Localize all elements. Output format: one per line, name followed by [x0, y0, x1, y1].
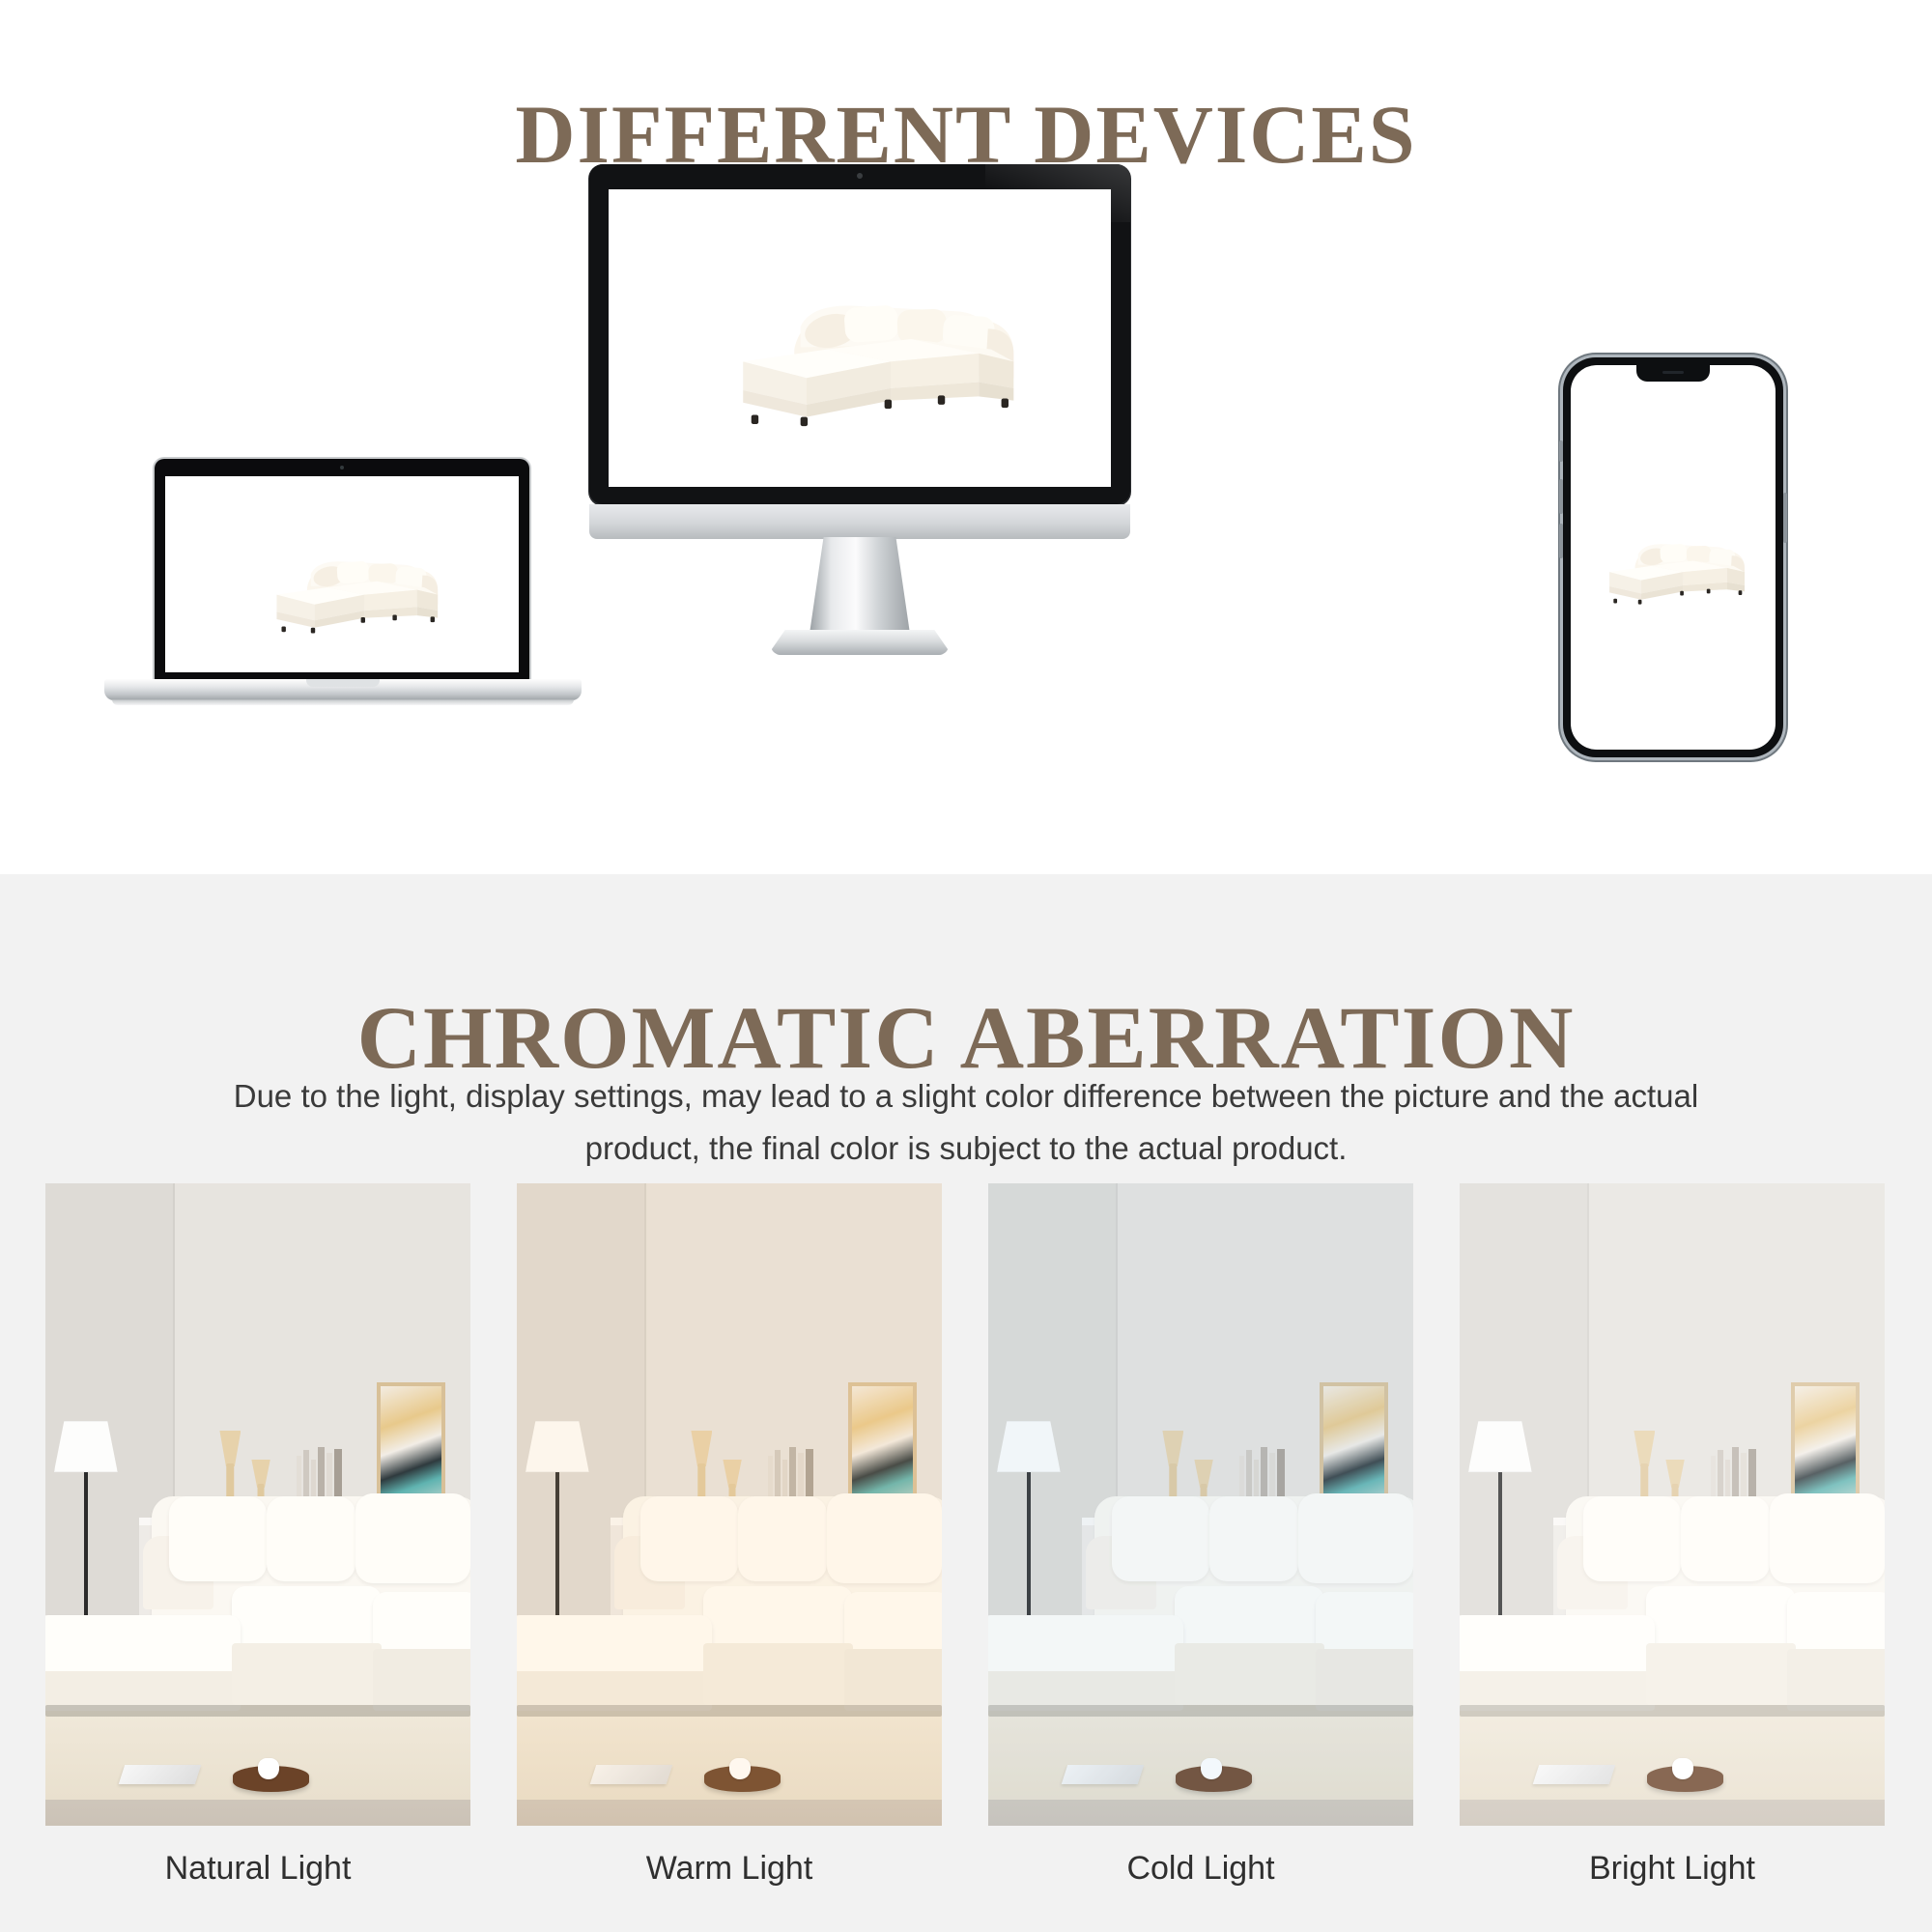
room-photo-cold [988, 1183, 1413, 1826]
monitor-screen-content [609, 189, 1111, 487]
sofa-shadow [517, 1705, 941, 1717]
lighting-panel[interactable]: Cold Light [988, 1183, 1413, 1826]
room-scene [988, 1183, 1413, 1826]
room-scene [1460, 1183, 1885, 1826]
sofa-base [1175, 1643, 1325, 1705]
sofa-base [373, 1649, 470, 1711]
monitor-device [589, 164, 1130, 609]
magazines [119, 1765, 202, 1784]
laptop-hinge-notch [306, 679, 380, 687]
phone-screen-content [1571, 365, 1776, 750]
room-photo-bright [1460, 1183, 1885, 1826]
sofa-cushion [267, 1496, 355, 1581]
sofa-ottoman-chaise [517, 1615, 712, 1677]
sectional-sofa [517, 1434, 942, 1717]
lighting-panel-caption: Natural Light [45, 1850, 470, 1888]
sofa-seat [373, 1592, 470, 1654]
different-devices-section: DIFFERENT DEVICES [0, 0, 1932, 874]
sofa-cushion [1209, 1496, 1298, 1581]
sofa-shadow [988, 1705, 1412, 1717]
coffee-cup [729, 1758, 751, 1780]
sofa-seat [1175, 1586, 1325, 1648]
room-photo-warm [517, 1183, 942, 1826]
sofa-base [1646, 1643, 1797, 1705]
chromatic-aberration-disclaimer: Due to the light, display settings, may … [213, 1070, 1719, 1175]
phone-device [1563, 357, 1783, 757]
sofa-cushion [1770, 1493, 1885, 1584]
sofa-shadow [1460, 1705, 1884, 1717]
lighting-panel[interactable]: Bright Light [1460, 1183, 1885, 1826]
sofa-ottoman-chaise [1460, 1615, 1655, 1677]
coffee-cup [1201, 1758, 1222, 1780]
sofa-base [703, 1643, 854, 1705]
phone-speaker-icon [1662, 371, 1684, 374]
phone-body [1563, 357, 1783, 757]
sofa-seat [844, 1592, 942, 1654]
product-detail-infographic: DIFFERENT DEVICES [0, 0, 1932, 1932]
room-scene [517, 1183, 942, 1826]
phone-volume-up-button[interactable] [1559, 479, 1563, 514]
sofa-seat [232, 1586, 383, 1648]
phone-volume-down-button[interactable] [1559, 524, 1563, 558]
sofa-product-image [1591, 519, 1755, 611]
sofa-seat [703, 1586, 854, 1648]
chromatic-aberration-section: CHROMATIC ABERRATION Due to the light, d… [0, 874, 1932, 1932]
sofa-base [844, 1649, 942, 1711]
sectional-sofa [45, 1434, 470, 1717]
sofa-cushion [1583, 1496, 1681, 1581]
laptop-screen-bezel [155, 459, 529, 683]
sofa-seat [1787, 1592, 1885, 1654]
sectional-sofa [988, 1434, 1413, 1717]
sofa-cushion [1298, 1493, 1413, 1584]
laptop-foot [112, 699, 574, 705]
sofa-product-image [214, 531, 490, 641]
laptop-device [135, 459, 551, 623]
room-photo-natural [45, 1183, 470, 1826]
monitor-stand-base [771, 630, 949, 655]
sofa-cushion [738, 1496, 827, 1581]
sofa-seat [1646, 1586, 1797, 1648]
sofa-cushion [1112, 1496, 1209, 1581]
lighting-comparison-gallery: Natural Light [45, 1183, 1887, 1826]
sofa-base [1787, 1649, 1885, 1711]
coffee-cup [1672, 1758, 1693, 1780]
magazines [590, 1765, 673, 1784]
sofa-cushion [1681, 1496, 1770, 1581]
sofa-ottoman-chaise [988, 1615, 1183, 1677]
magazines [1062, 1765, 1145, 1784]
lighting-panel-caption: Warm Light [517, 1850, 942, 1888]
lighting-panel-caption: Bright Light [1460, 1850, 1885, 1888]
phone-mute-switch[interactable] [1559, 440, 1563, 462]
sofa-cushion [827, 1493, 942, 1584]
sofa-cushion [355, 1493, 470, 1584]
sofa-base [232, 1643, 383, 1705]
phone-power-button[interactable] [1783, 493, 1787, 543]
sofa-product-image [649, 255, 1092, 440]
laptop-screen-content [165, 476, 519, 672]
sofa-base [1316, 1649, 1413, 1711]
monitor-stand-neck [810, 537, 910, 634]
coffee-cup [258, 1758, 279, 1780]
sofa-cushion [169, 1496, 267, 1581]
lighting-panel-caption: Cold Light [988, 1850, 1413, 1888]
sofa-cushion [640, 1496, 738, 1581]
lighting-panel[interactable]: Warm Light [517, 1183, 942, 1826]
room-scene [45, 1183, 470, 1826]
monitor-camera-icon [857, 173, 863, 179]
monitor-bezel [589, 164, 1130, 504]
lighting-panel[interactable]: Natural Light [45, 1183, 470, 1826]
monitor-chin [589, 504, 1130, 539]
sofa-shadow [45, 1705, 469, 1717]
sofa-seat [1316, 1592, 1413, 1654]
laptop-camera-icon [340, 466, 344, 469]
phone-notch [1636, 365, 1710, 382]
sofa-ottoman-chaise [45, 1615, 241, 1677]
sectional-sofa [1460, 1434, 1885, 1717]
magazines [1533, 1765, 1616, 1784]
